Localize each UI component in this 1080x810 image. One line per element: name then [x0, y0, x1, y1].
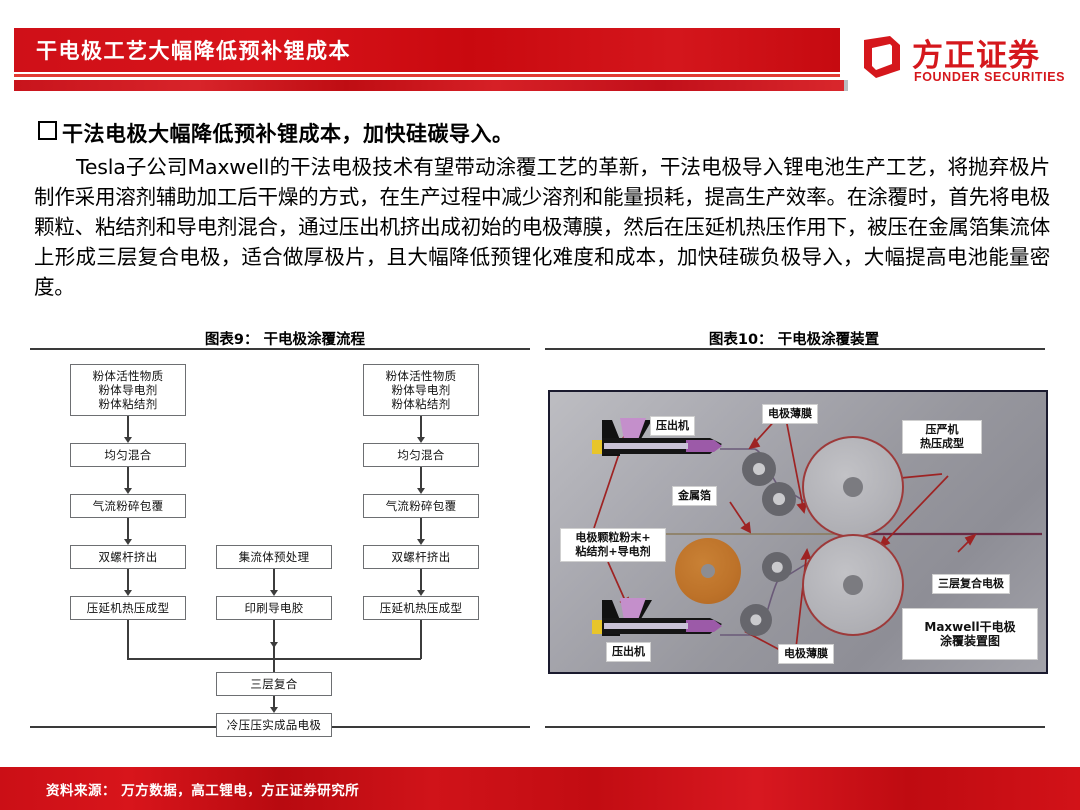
- flow-node-text: 粉体活性物质: [93, 369, 164, 383]
- flow-node-right-screw: 双螺杆挤出: [363, 545, 479, 569]
- press-roller-top: [802, 436, 904, 538]
- source-text: 资料来源： 万方数据，高工锂电，方正证券研究所: [46, 779, 359, 799]
- roller-hub: [750, 614, 761, 625]
- slide-header: 干电极工艺大幅降低预补锂成本 方正证券 FOUNDER SECURITIES: [0, 28, 1080, 94]
- flow-node-left-raw: 粉体活性物质 粉体导电剂 粉体粘结剂: [70, 364, 186, 416]
- flow-connector: [127, 569, 129, 592]
- label-line: 涂覆装置图: [940, 634, 1000, 648]
- figure9-flowchart: 粉体活性物质 粉体导电剂 粉体粘结剂 均匀混合 气流粉碎包覆 双螺杆挤出 压延机…: [30, 352, 532, 722]
- figure10-caption: 图表10： 干电极涂覆装置: [538, 328, 1050, 349]
- flow-connector: [420, 416, 422, 439]
- logo-english-text: FOUNDER SECURITIES: [914, 70, 1065, 84]
- label-electrode-powder: 电极颗粒粉末+ 粘结剂+导电剂: [560, 528, 666, 562]
- roller-hub: [773, 493, 785, 505]
- flow-node-left-calender: 压延机热压成型: [70, 596, 186, 620]
- flow-connector: [420, 620, 422, 659]
- bullet-square-icon: [38, 121, 57, 140]
- label-line: 压严机: [908, 423, 976, 437]
- label-line: 粘结剂+导电剂: [566, 545, 660, 559]
- flow-node-text: 粉体活性物质: [386, 369, 457, 383]
- flow-merge-bus: [127, 658, 421, 660]
- flow-node-left-jet: 气流粉碎包覆: [70, 494, 186, 518]
- flow-node-tri-laminate: 三层复合: [216, 672, 332, 696]
- slide-root: 干电极工艺大幅降低预补锂成本 方正证券 FOUNDER SECURITIES 干…: [0, 0, 1080, 810]
- flow-connector: [127, 416, 129, 439]
- slide-footer: 资料来源： 万方数据，高工锂电，方正证券研究所: [0, 767, 1080, 810]
- foil-roll-hub: [701, 564, 715, 578]
- flow-node-left-mix: 均匀混合: [70, 443, 186, 467]
- flow-node-text: 粉体导电剂: [99, 383, 158, 397]
- flow-node-right-raw: 粉体活性物质 粉体导电剂 粉体粘结剂: [363, 364, 479, 416]
- flow-node-text: 粉体导电剂: [392, 383, 451, 397]
- guide-roller-1: [742, 452, 776, 486]
- label-film-top: 电极薄膜: [762, 404, 818, 424]
- flow-connector: [273, 569, 275, 592]
- label-extruder-top: 压出机: [650, 416, 695, 436]
- roller-hub: [843, 477, 863, 497]
- label-press-machine: 压严机 热压成型: [902, 420, 982, 454]
- guide-roller-3: [762, 552, 792, 582]
- flow-connector: [127, 518, 129, 541]
- figure10-rule-top: [545, 348, 1045, 350]
- flow-connector: [127, 467, 129, 490]
- flow-node-right-jet: 气流粉碎包覆: [363, 494, 479, 518]
- metal-foil-roll: [675, 538, 741, 604]
- figure9-caption: 图表9： 干电极涂覆流程: [30, 328, 540, 349]
- label-line: 热压成型: [908, 437, 976, 451]
- flow-node-right-mix: 均匀混合: [363, 443, 479, 467]
- figure10-rule-bottom: [545, 726, 1045, 728]
- roller-hub: [843, 575, 863, 595]
- flow-node-left-screw: 双螺杆挤出: [70, 545, 186, 569]
- label-tri-layer-electrode: 三层复合电极: [932, 574, 1010, 594]
- label-line: Maxwell干电极: [924, 620, 1015, 634]
- extruder-bottom-icon: [590, 598, 730, 644]
- founder-logo-mark-icon: [860, 34, 904, 80]
- header-red-bar: 干电极工艺大幅降低预补锂成本: [14, 28, 840, 72]
- flow-connector: [420, 518, 422, 541]
- label-watermark: Maxwell干电极 涂覆装置图: [902, 608, 1038, 660]
- founder-securities-logo: 方正证券 FOUNDER SECURITIES: [854, 30, 1066, 92]
- logo-chinese-text: 方正证券: [912, 30, 1040, 75]
- press-roller-bottom: [802, 534, 904, 636]
- roller-hub: [772, 562, 783, 573]
- header-divider-thin: [14, 74, 840, 77]
- flow-arrowhead-icon: [270, 642, 278, 648]
- body-paragraph: Tesla子公司Maxwell的干法电极技术有望带动涂覆工艺的革新，干法电极导入…: [34, 152, 1050, 302]
- roller-hub: [753, 463, 765, 475]
- label-extruder-bottom: 压出机: [606, 642, 651, 662]
- flow-node-mid-print: 印刷导电胶: [216, 596, 332, 620]
- guide-roller-2: [762, 482, 796, 516]
- label-film-bottom: 电极薄膜: [778, 644, 834, 664]
- flow-node-text: 粉体粘结剂: [392, 397, 451, 411]
- guide-roller-4: [740, 604, 772, 636]
- flow-node-mid-pretreat: 集流体预处理: [216, 545, 332, 569]
- page-title: 干电极工艺大幅降低预补锂成本: [36, 35, 351, 65]
- label-metal-foil: 金属箔: [672, 486, 717, 506]
- flow-connector: [127, 620, 129, 659]
- flow-node-final: 冷压压实成品电极: [216, 713, 332, 737]
- bullet-heading: 干法电极大幅降低预补锂成本，加快硅碳导入。: [62, 118, 1022, 148]
- flow-connector: [420, 569, 422, 592]
- label-line: 电极颗粒粉末+: [566, 531, 660, 545]
- header-divider-thick: [14, 80, 848, 91]
- flow-node-text: 粉体粘结剂: [99, 397, 158, 411]
- figure10-device-diagram: 压出机 电极薄膜 金属箔 压严机 热压成型 电极颗粒粉末+ 粘结剂+导电剂 压出…: [548, 390, 1048, 674]
- figure9-rule-top: [30, 348, 530, 350]
- flow-connector: [420, 467, 422, 490]
- flow-node-right-calender: 压延机热压成型: [363, 596, 479, 620]
